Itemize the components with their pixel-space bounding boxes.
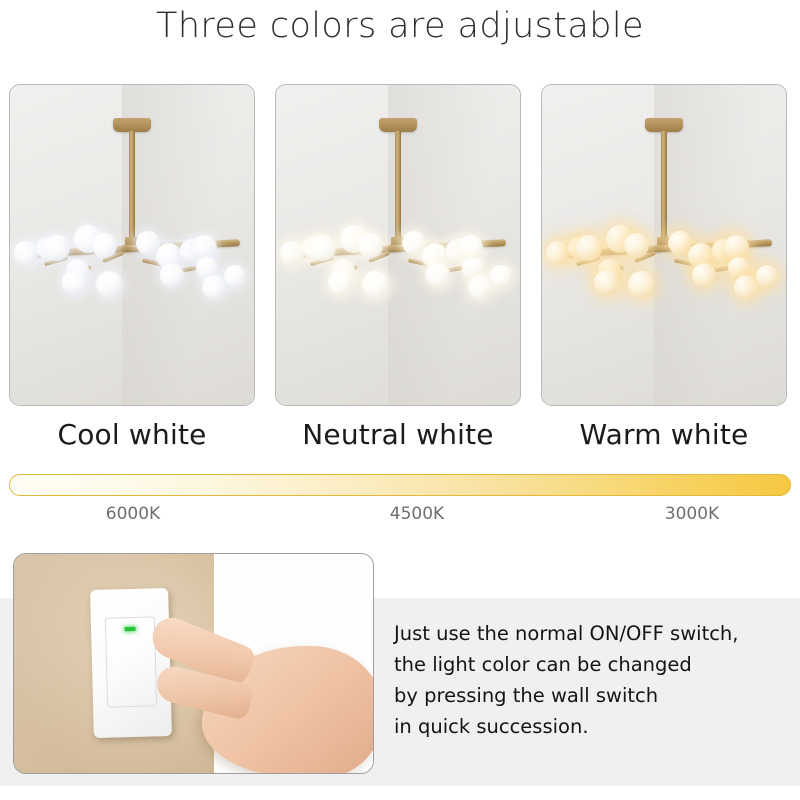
caption-line-2: the light color can be changed: [394, 649, 794, 680]
panel-warm-white[interactable]: [541, 84, 787, 406]
glass-globe: [624, 233, 649, 258]
page-title: Three colors are adjustable: [0, 6, 800, 46]
chandelier-warm-white: [542, 85, 786, 405]
glass-globe: [426, 263, 450, 287]
infographic-page: Three colors are adjustable: [0, 0, 800, 800]
glass-globe: [14, 241, 38, 265]
glass-globe: [576, 235, 602, 261]
color-temperature-ticks: 6000K 4500K 3000K: [0, 504, 800, 528]
glass-globe: [594, 270, 619, 295]
glass-globe: [358, 233, 383, 258]
glass-globe: [362, 271, 389, 298]
ceiling-canopy: [379, 118, 417, 132]
glass-globe: [310, 235, 336, 261]
glass-globe: [756, 265, 778, 287]
label-warm-white: Warm white: [541, 418, 787, 451]
glass-globe: [62, 270, 87, 295]
glass-globe: [92, 233, 117, 258]
glass-globe: [202, 275, 226, 299]
kelvin-6000k: 6000K: [53, 504, 213, 524]
chandelier-neutral-white: [276, 85, 520, 405]
panel-cool-white[interactable]: [9, 84, 255, 406]
glass-globe: [692, 263, 716, 287]
glass-globe: [546, 241, 570, 265]
caption-line-4: in quick succession.: [394, 711, 794, 742]
kelvin-3000k: 3000K: [612, 504, 772, 524]
chandelier-cool-white: [10, 85, 254, 405]
color-mode-labels: Cool white Neutral white Warm white: [0, 418, 800, 458]
glass-globe: [734, 275, 758, 299]
glass-globe: [224, 265, 246, 287]
chandelier-stem: [129, 131, 135, 239]
glass-globe: [160, 263, 184, 287]
label-neutral-white: Neutral white: [275, 418, 521, 451]
glass-globe: [628, 271, 655, 298]
label-cool-white: Cool white: [9, 418, 255, 451]
ceiling-canopy: [645, 118, 683, 132]
glass-globe: [280, 241, 304, 265]
color-mode-panels: [9, 84, 791, 406]
panel-neutral-white[interactable]: [275, 84, 521, 406]
caption-line-1: Just use the normal ON/OFF switch,: [394, 618, 794, 649]
glass-globe: [468, 275, 492, 299]
glass-globe: [490, 265, 512, 287]
color-temperature-gradient-bar: [9, 474, 791, 496]
wall-switch-photo[interactable]: [13, 553, 374, 774]
chandelier-socket: [388, 245, 397, 252]
chandelier-stem: [661, 131, 667, 239]
glass-globe: [44, 235, 70, 261]
green-led-indicator-icon: [125, 627, 136, 631]
kelvin-4500k: 4500K: [337, 504, 497, 524]
caption-line-3: by pressing the wall switch: [394, 680, 794, 711]
chandelier-stem: [395, 131, 401, 239]
chandelier-socket: [654, 245, 663, 252]
glass-globe: [328, 270, 353, 295]
chandelier-socket: [122, 245, 131, 252]
glass-globe: [96, 271, 123, 298]
ceiling-canopy: [113, 118, 151, 132]
instruction-caption: Just use the normal ON/OFF switch, the l…: [394, 618, 794, 742]
hand-illustration: [142, 622, 374, 774]
